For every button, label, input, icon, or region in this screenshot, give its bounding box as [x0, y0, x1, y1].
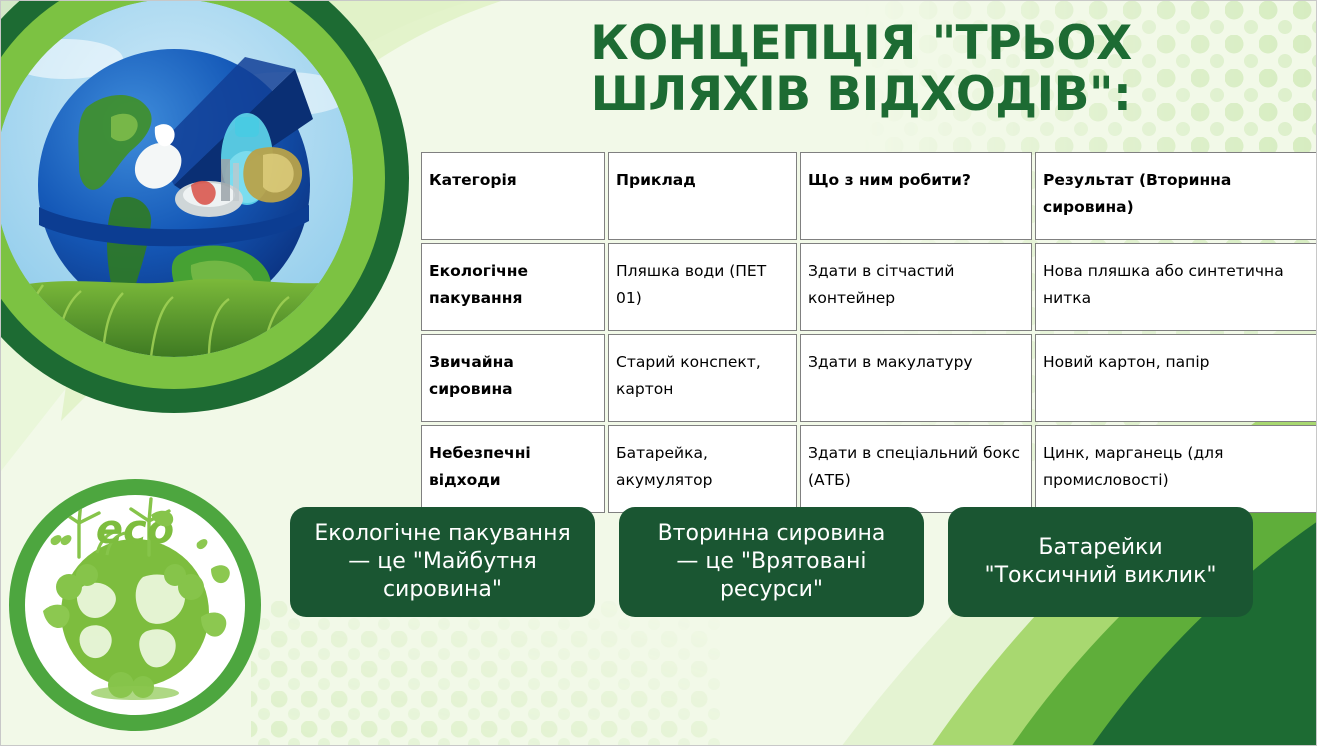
header-category: Категорія [421, 152, 605, 240]
callout-row: Екологічне пакування — це "Майбутня сиро… [290, 507, 1253, 617]
cell-result: Новий картон, папір [1035, 334, 1317, 422]
cell-category: Екологічне пакування [421, 243, 605, 331]
callout-eco-packaging: Екологічне пакування — це "Майбутня сиро… [290, 507, 595, 617]
cell-action: Здати в сітчастий контейнер [800, 243, 1032, 331]
waste-routes-table-wrapper: Категорія Приклад Що з ним робити? Резул… [418, 149, 1259, 516]
cell-result: Цинк, марганець (для промисловості) [1035, 425, 1317, 513]
table-header-row: Категорія Приклад Що з ним робити? Резул… [421, 152, 1317, 240]
globe-waste-photo [0, 0, 353, 357]
cell-category: Небезпечні відходи [421, 425, 605, 513]
table-row: Звичайна сировина Старий конспект, карто… [421, 334, 1317, 422]
dot-pattern-bottom-left [251, 601, 721, 746]
header-result: Результат (Вторинна сировина) [1035, 152, 1317, 240]
slide-canvas: eco КОНЦЕПЦІЯ "ТРЬОХ ШЛЯХІВ ВІДХОДІВ": К… [0, 0, 1317, 746]
cell-action: Здати в спеціальний бокс (АТБ) [800, 425, 1032, 513]
cell-example: Пляшка води (ПЕТ 01) [608, 243, 797, 331]
cell-example: Старий конспект, картон [608, 334, 797, 422]
page-title: КОНЦЕПЦІЯ "ТРЬОХ ШЛЯХІВ ВІДХОДІВ": [521, 19, 1201, 121]
cell-category: Звичайна сировина [421, 334, 605, 422]
table-row: Небезпечні відходи Батарейка, акумулятор… [421, 425, 1317, 513]
header-example: Приклад [608, 152, 797, 240]
eco-logo: eco [25, 495, 245, 715]
cell-result: Нова пляшка або синтетична нитка [1035, 243, 1317, 331]
waste-routes-table: Категорія Приклад Що з ним робити? Резул… [418, 149, 1317, 516]
callout-batteries: Батарейки "Токсичний виклик" [948, 507, 1253, 617]
callout-secondary-raw: Вторинна сировина — це "Врятовані ресурс… [619, 507, 924, 617]
cell-action: Здати в макулатуру [800, 334, 1032, 422]
cell-example: Батарейка, акумулятор [608, 425, 797, 513]
table-row: Екологічне пакування Пляшка води (ПЕТ 01… [421, 243, 1317, 331]
header-action: Що з ним робити? [800, 152, 1032, 240]
